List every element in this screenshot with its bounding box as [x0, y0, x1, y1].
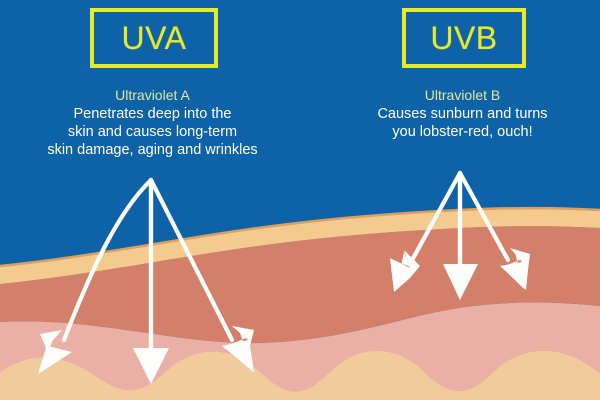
uva-ray-group	[38, 180, 254, 384]
uva-ray-right	[151, 180, 254, 372]
uva-ray-left	[38, 180, 151, 374]
uvb-box-label: UVB	[430, 22, 497, 54]
uva-caption-line-1: Penetrates deep into the	[5, 105, 300, 123]
uvb-caption-title: Ultraviolet B	[330, 86, 595, 104]
uvb-caption-block: Ultraviolet B Causes sunburn and turns y…	[330, 86, 595, 141]
uvb-caption-line-1: Causes sunburn and turns	[330, 105, 595, 123]
uva-caption-line-2: skin and causes long-term	[5, 123, 300, 141]
uva-ray-center	[133, 180, 169, 384]
uva-caption-block: Ultraviolet A Penetrates deep into the s…	[5, 86, 300, 159]
uva-caption-line-3: skin damage, aging and wrinkles	[5, 141, 300, 159]
uvb-label-box: UVB	[402, 8, 526, 68]
uva-caption-title: Ultraviolet A	[5, 86, 300, 104]
uvb-caption-line-2: you lobster-red, ouch!	[330, 123, 595, 141]
uva-label-box: UVA	[90, 8, 218, 68]
uv-radiation-infographic: UVA UVB Ultraviolet A Penetrates deep in…	[0, 0, 600, 400]
uvb-ray-group	[390, 173, 530, 300]
uva-box-label: UVA	[122, 22, 187, 54]
